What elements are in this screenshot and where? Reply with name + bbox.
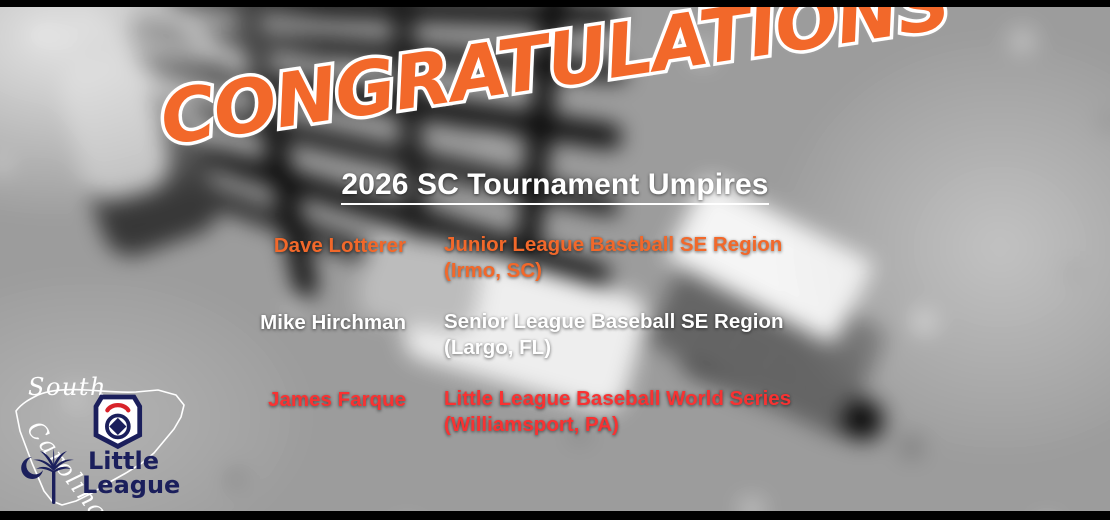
assignment-location: (Largo, FL)	[444, 335, 783, 361]
page-title: 2026 SC Tournament Umpires	[0, 168, 1110, 202]
page-title-text: 2026 SC Tournament Umpires	[341, 168, 768, 205]
letterbox-top	[0, 0, 1110, 7]
little-league-keystone-icon	[96, 397, 140, 446]
logo-script-south: South	[28, 373, 107, 401]
letterbox-bottom	[0, 511, 1110, 520]
logo-brand-league: League	[82, 471, 180, 499]
umpire-assignment: Senior League Baseball SE Region (Largo,…	[406, 309, 783, 361]
congratulations-graphic: CONGRATULATIONS 2026 SC Tournament Umpir…	[0, 0, 1110, 520]
assignment-title: Senior League Baseball SE Region	[444, 309, 783, 335]
assignment-location: (Williamsport, PA)	[444, 412, 791, 438]
assignment-title: Junior League Baseball SE Region	[444, 232, 782, 258]
umpire-name: Mike Hirchman	[0, 309, 406, 336]
umpire-assignment: Junior League Baseball SE Region (Irmo, …	[406, 232, 782, 284]
assignment-location: (Irmo, SC)	[444, 258, 782, 284]
assignment-title: Little League Baseball World Series	[444, 386, 791, 412]
umpire-name: Dave Lotterer	[0, 232, 406, 259]
roster-row: Dave Lotterer Junior League Baseball SE …	[0, 232, 830, 284]
roster-row: Mike Hirchman Senior League Baseball SE …	[0, 309, 830, 361]
umpire-assignment: Little League Baseball World Series (Wil…	[406, 386, 791, 438]
sc-little-league-logo: South Carolina	[8, 359, 198, 514]
